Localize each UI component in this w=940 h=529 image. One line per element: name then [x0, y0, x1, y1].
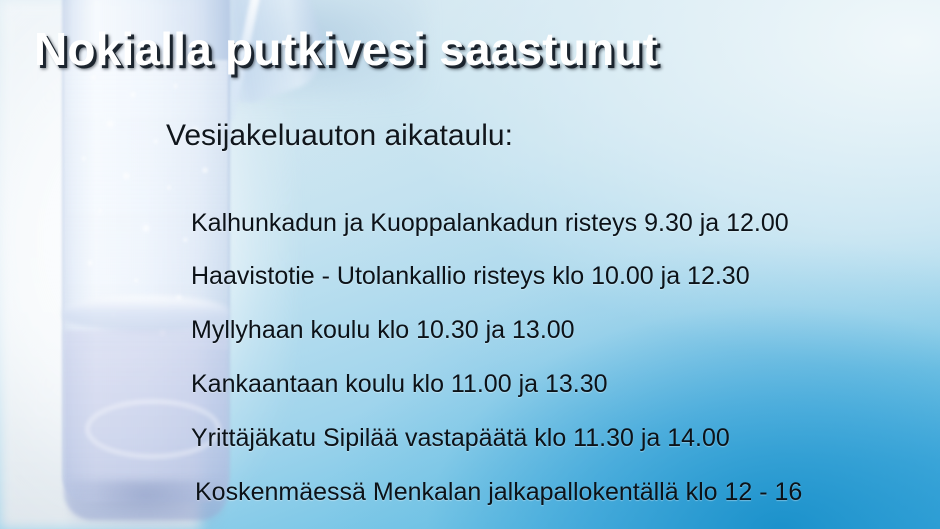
- schedule-item: Kalhunkadun ja Kuoppalankadun risteys 9.…: [191, 209, 789, 238]
- text-overlay: Nokialla putkivesi saastunut Vesijakelua…: [0, 0, 940, 529]
- schedule-item: Kankaantaan koulu klo 11.00 ja 13.30: [191, 370, 608, 399]
- schedule-item: Yrittäjäkatu Sipilää vastapäätä klo 11.3…: [191, 424, 730, 453]
- broadcast-slate: Nokialla putkivesi saastunut Vesijakelua…: [0, 0, 940, 529]
- schedule-item: Haavistotie - Utolankallio risteys klo 1…: [191, 262, 750, 291]
- subtitle: Vesijakeluauton aikataulu:: [166, 119, 513, 153]
- headline: Nokialla putkivesi saastunut: [34, 22, 658, 76]
- schedule-item: Koskenmäessä Menkalan jalkapallokentällä…: [195, 478, 802, 507]
- schedule-item: Myllyhaan koulu klo 10.30 ja 13.00: [191, 316, 575, 345]
